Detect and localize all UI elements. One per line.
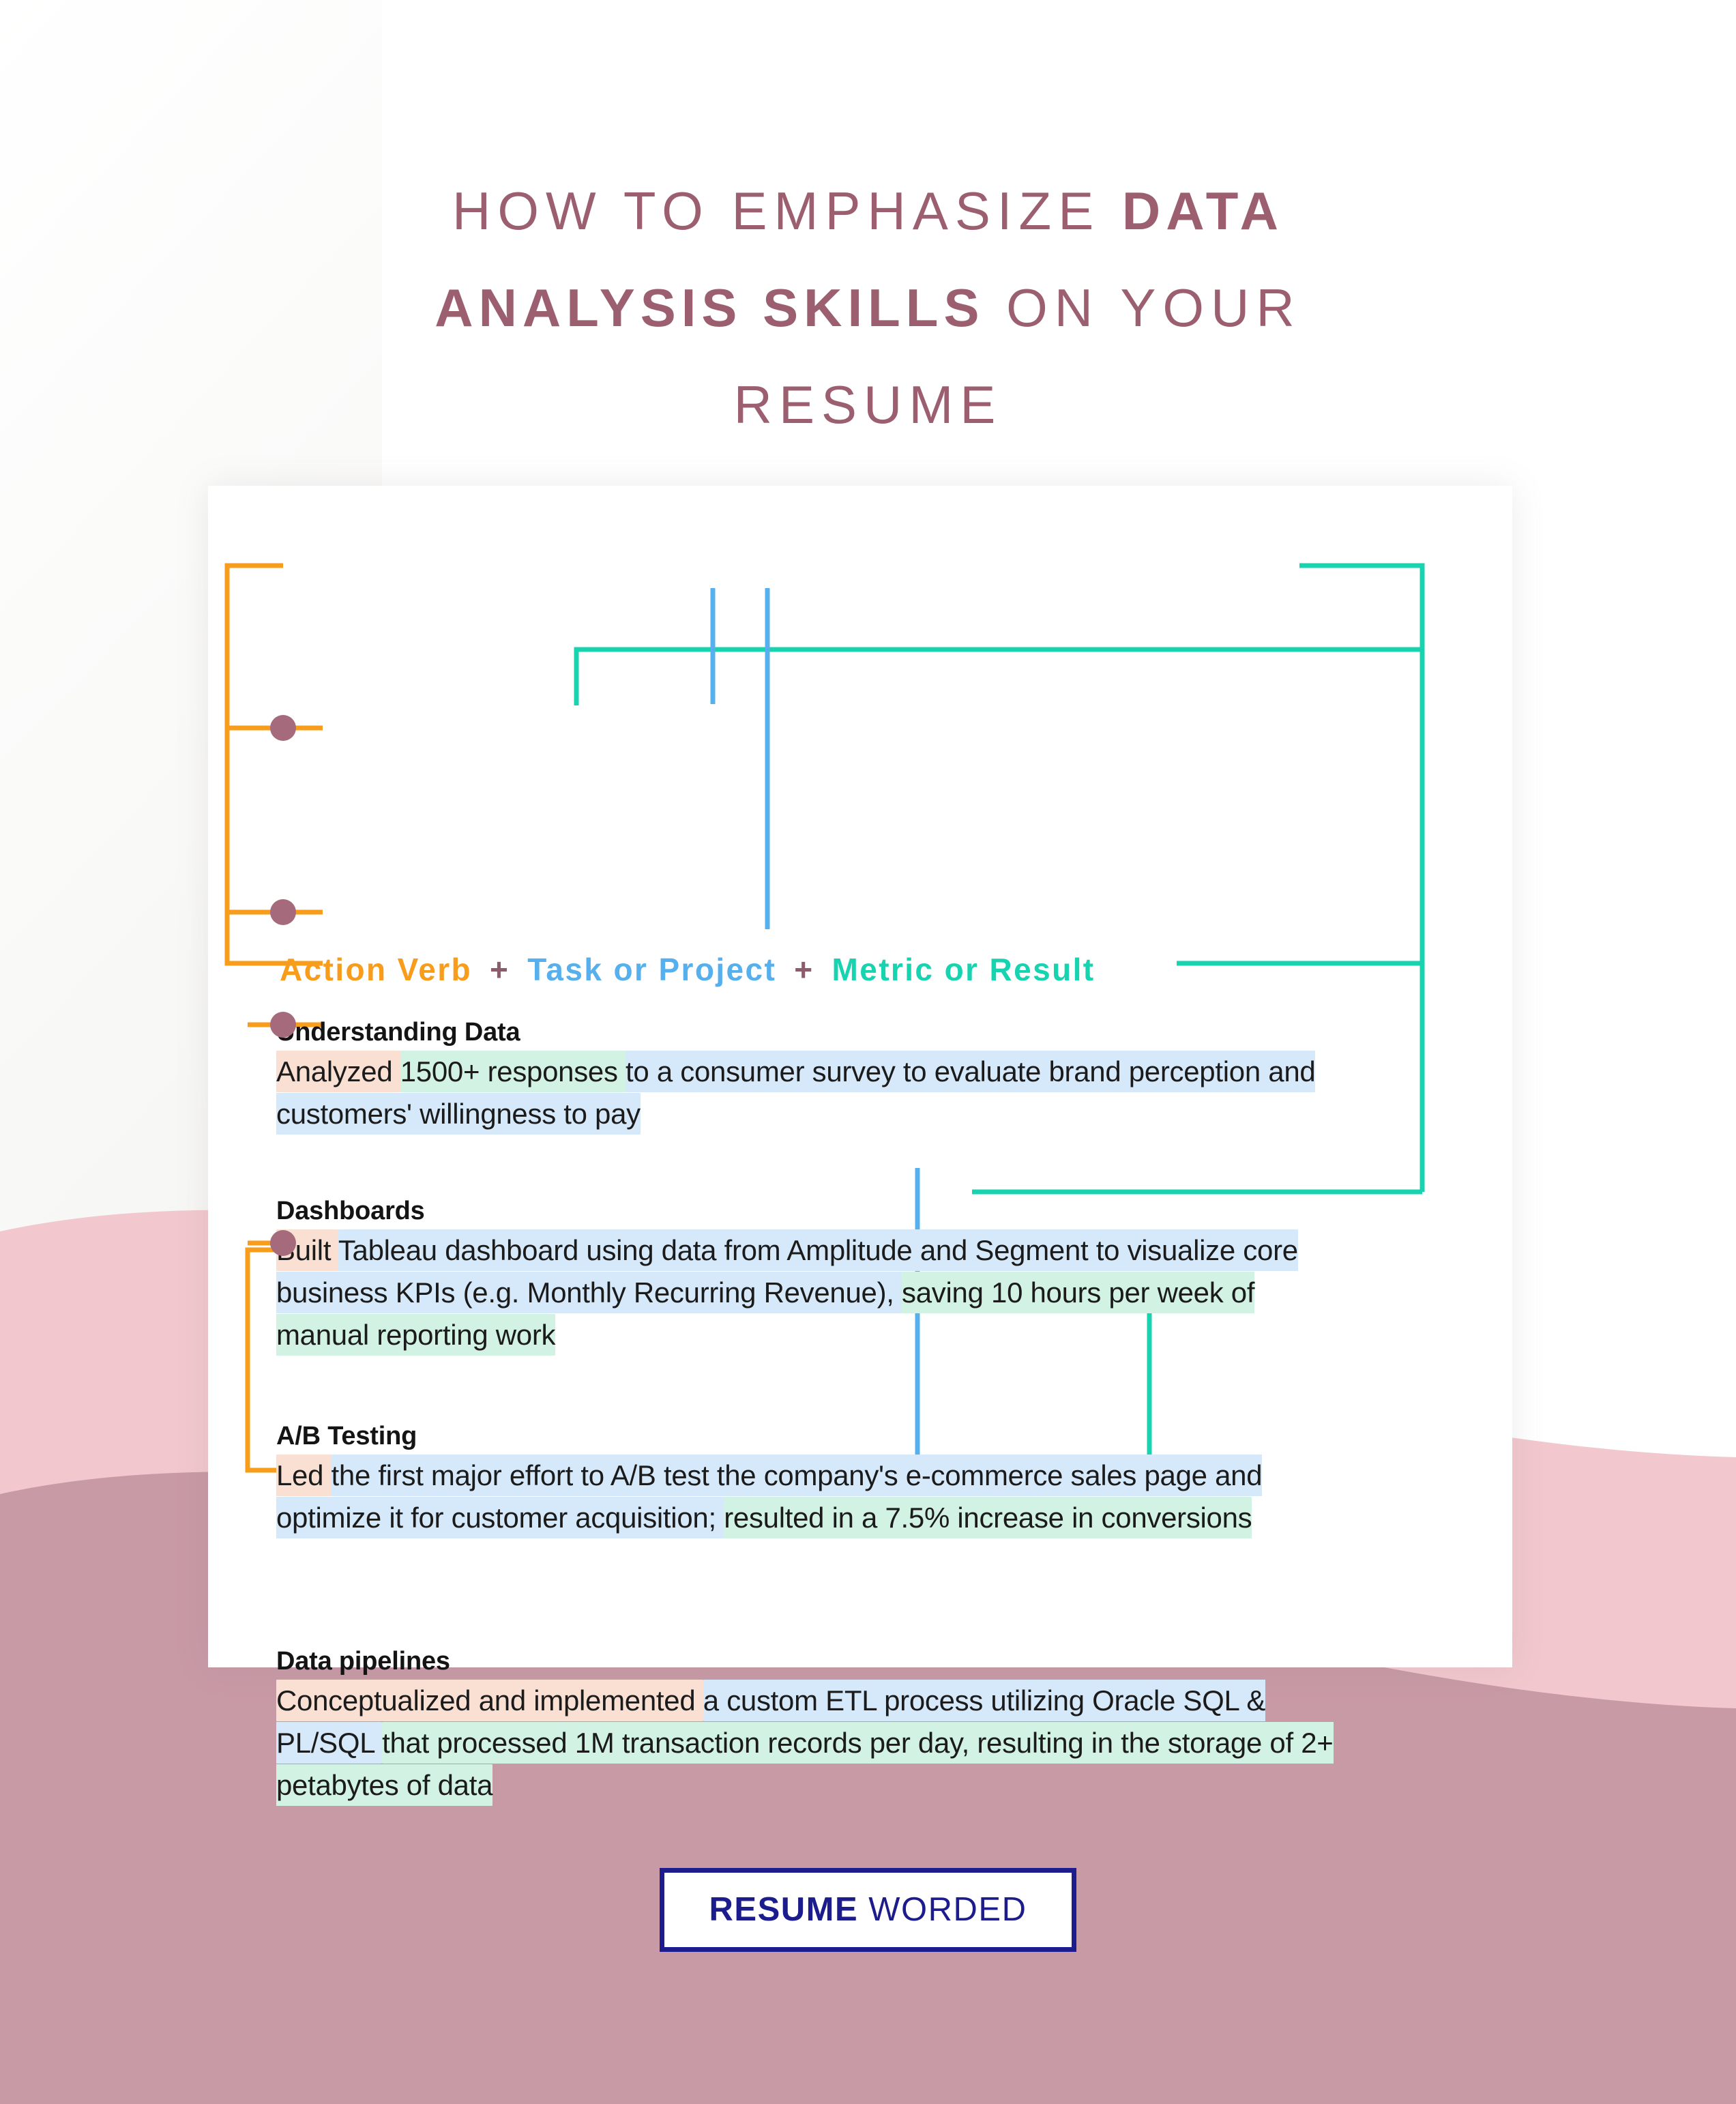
bullet-body: Led the first major effort to A/B test t… xyxy=(276,1455,1340,1539)
title-text-3: ANALYSIS SKILLS xyxy=(435,278,984,338)
bullet-heading: A/B Testing xyxy=(276,1420,1340,1452)
title-line-2: ANALYSIS SKILLS ON YOUR xyxy=(0,259,1736,356)
highlight-metric: 1500+ responses xyxy=(400,1051,626,1092)
legend-action-verb: Action Verb xyxy=(280,952,472,987)
bullet-block: A/B Testing Led the first major effort t… xyxy=(276,1420,1340,1539)
resume-bullet-card: Action Verb+Task or Project+Metric or Re… xyxy=(208,486,1512,1667)
page-title: HOW TO EMPHASIZE DATA ANALYSIS SKILLS ON… xyxy=(0,162,1736,453)
title-text-1: HOW TO EMPHASIZE xyxy=(452,181,1122,241)
teal-line-header xyxy=(576,649,1422,705)
bullet-block: Data pipelines Conceptualized and implem… xyxy=(276,1646,1340,1807)
bullet-block: Dashboards Built Tableau dashboard using… xyxy=(276,1195,1340,1356)
logo-text-regular: WORDED xyxy=(858,1891,1027,1928)
title-text-2: DATA xyxy=(1122,181,1284,241)
highlight-action: Analyzed xyxy=(276,1051,400,1092)
bullet-heading: Understanding Data xyxy=(276,1017,1340,1048)
highlight-metric: resulted in a 7.5% increase in conversio… xyxy=(724,1497,1252,1538)
bullet-heading: Dashboards xyxy=(276,1195,1340,1227)
legend-plus-1: + xyxy=(490,952,510,987)
legend-metric-or-result: Metric or Result xyxy=(832,952,1095,987)
bullet-body: Built Tableau dashboard using data from … xyxy=(276,1229,1340,1356)
bullet-body: Conceptualized and implemented a custom … xyxy=(276,1680,1340,1807)
bullet-body: Analyzed 1500+ responses to a consumer s… xyxy=(276,1051,1340,1135)
highlight-action: Built xyxy=(276,1229,338,1271)
title-line-3: RESUME xyxy=(0,356,1736,453)
title-text-5: RESUME xyxy=(734,375,1003,435)
legend-top: Action Verb+Task or Project+Metric or Re… xyxy=(280,954,1095,985)
title-text-4: ON YOUR xyxy=(984,278,1301,338)
logo-text-bold: RESUME xyxy=(709,1891,859,1928)
title-line-1: HOW TO EMPHASIZE DATA xyxy=(0,162,1736,259)
highlight-metric: that processed 1M transaction records pe… xyxy=(276,1722,1334,1806)
orange-bracket xyxy=(227,566,323,963)
bullet-heading: Data pipelines xyxy=(276,1646,1340,1677)
legend-plus-2: + xyxy=(794,952,814,987)
highlight-action: Led xyxy=(276,1455,332,1496)
highlight-action: Conceptualized and implemented xyxy=(276,1680,703,1721)
resume-worded-logo[interactable]: RESUME WORDED xyxy=(660,1868,1077,1952)
logo-text: RESUME WORDED xyxy=(709,1893,1027,1927)
legend-task-or-project: Task or Project xyxy=(527,952,776,987)
bullet-block: Understanding Data Analyzed 1500+ respon… xyxy=(276,1017,1340,1135)
